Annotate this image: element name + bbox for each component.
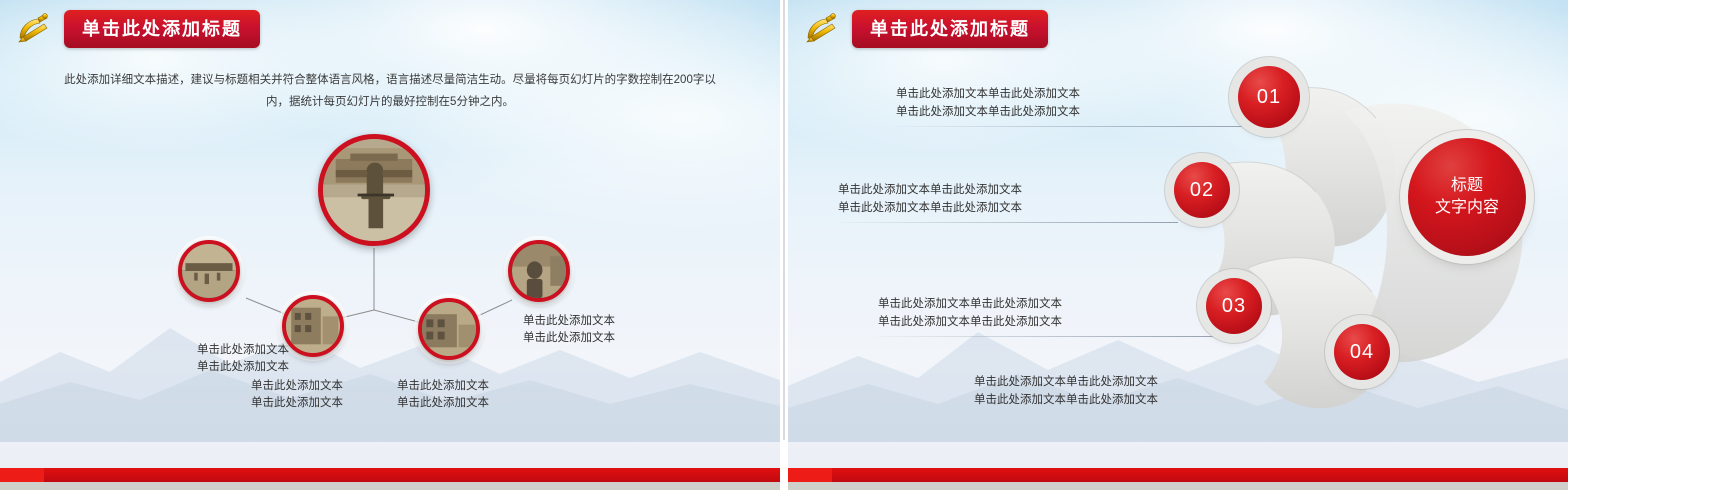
node-label-4-line2: 单击此处添加文本 — [494, 330, 644, 347]
footer-seg-b-right — [832, 468, 1568, 482]
slide-divider — [783, 0, 785, 440]
page-title-right: 单击此处添加标题 — [852, 10, 1048, 48]
number-badge-03[interactable]: 03 — [1206, 278, 1262, 334]
item-02-line2: 单击此处添加文本单击此处添加文本 — [838, 200, 1022, 218]
item-text-01: 单击此处添加文本单击此处添加文本 单击此处添加文本单击此处添加文本 — [896, 86, 1080, 122]
footer-seg-a-right — [788, 468, 832, 482]
number-badge-02[interactable]: 02 — [1174, 162, 1230, 218]
historic-portrait-photo — [512, 244, 566, 298]
page-title: 单击此处添加标题 — [64, 10, 260, 48]
footer-bar-right — [788, 468, 1568, 482]
number-badge-04[interactable]: 04 — [1334, 324, 1390, 380]
node-photo-4[interactable] — [508, 240, 570, 302]
node-label-4-line1: 单击此处添加文本 — [494, 313, 644, 330]
historic-building-photo — [286, 299, 340, 353]
item-rule-03 — [878, 336, 1214, 337]
item-03-line1: 单击此处添加文本单击此处添加文本 — [878, 296, 1062, 314]
center-title-circle[interactable]: 标题 文字内容 — [1408, 138, 1526, 256]
footer-seg-a-left — [0, 468, 44, 482]
node-label-3-line2: 单击此处添加文本 — [368, 395, 518, 412]
node-photo-1[interactable] — [178, 240, 240, 302]
slide-title-row: 单击此处添加标题 — [14, 10, 260, 48]
item-rule-02 — [838, 222, 1178, 223]
node-label-2-line1: 单击此处添加文本 — [222, 378, 372, 395]
node-label-2-line2: 单击此处添加文本 — [222, 395, 372, 412]
item-03-line2: 单击此处添加文本单击此处添加文本 — [878, 314, 1062, 332]
node-label-2: 单击此处添加文本 单击此处添加文本 — [222, 378, 372, 411]
node-label-3-line1: 单击此处添加文本 — [368, 378, 518, 395]
party-emblem-icon — [14, 12, 54, 46]
slide-deck: 单击此处添加标题 此处添加详细文本描述，建议与标题相关并符合整体语言风格，语言描… — [0, 0, 1720, 490]
center-title-line1: 标题 — [1451, 175, 1483, 197]
left-slide: 单击此处添加标题 此处添加详细文本描述，建议与标题相关并符合整体语言风格，语言描… — [0, 0, 780, 490]
mountain-decoration-right — [788, 232, 1568, 442]
item-text-04: 单击此处添加文本单击此处添加文本 单击此处添加文本单击此处添加文本 — [974, 374, 1158, 410]
footer-bar-left — [0, 468, 780, 482]
slide-title-row-right: 单击此处添加标题 — [802, 10, 1048, 48]
right-slide: 单击此处添加标题 — [788, 0, 1568, 490]
footer-base-left — [0, 482, 780, 490]
item-rule-01 — [896, 126, 1256, 127]
item-01-line1: 单击此处添加文本单击此处添加文本 — [896, 86, 1080, 104]
node-photo-3[interactable] — [418, 298, 480, 360]
historic-crowd-photo — [182, 244, 236, 298]
item-text-02: 单击此处添加文本单击此处添加文本 单击此处添加文本单击此处添加文本 — [838, 182, 1022, 218]
node-label-3: 单击此处添加文本 单击此处添加文本 — [368, 378, 518, 411]
center-title-line2: 文字内容 — [1435, 197, 1499, 219]
node-photo-2[interactable] — [282, 295, 344, 357]
number-badge-01[interactable]: 01 — [1238, 66, 1300, 128]
hub-photo[interactable] — [318, 134, 430, 246]
item-text-03: 单击此处添加文本单击此处添加文本 单击此处添加文本单击此处添加文本 — [878, 296, 1062, 332]
item-02-line1: 单击此处添加文本单击此处添加文本 — [838, 182, 1022, 200]
item-04-line1: 单击此处添加文本单击此处添加文本 — [974, 374, 1158, 392]
historic-street-photo — [422, 302, 476, 356]
node-label-4: 单击此处添加文本 单击此处添加文本 — [494, 313, 644, 346]
item-01-line2: 单击此处添加文本单击此处添加文本 — [896, 104, 1080, 122]
node-label-1-line2: 单击此处添加文本 — [168, 359, 318, 376]
soldier-at-tiananmen-photo — [323, 139, 425, 241]
footer-seg-b-left — [44, 468, 780, 482]
footer-base-right — [788, 482, 1568, 490]
item-04-line2: 单击此处添加文本单击此处添加文本 — [974, 392, 1158, 410]
body-paragraph: 此处添加详细文本描述，建议与标题相关并符合整体语言风格，语言描述尽量简洁生动。尽… — [60, 70, 720, 114]
party-emblem-icon — [802, 12, 842, 46]
